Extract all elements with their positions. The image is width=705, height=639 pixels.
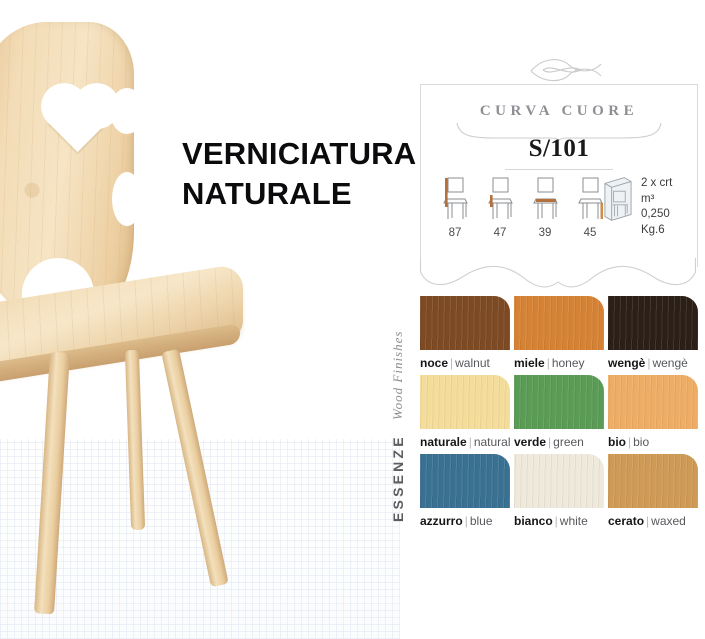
product-code: S/101 bbox=[421, 135, 697, 163]
swatch-name-en: natural bbox=[474, 435, 511, 449]
swatch-color-chip bbox=[514, 375, 604, 429]
swatch-bio[interactable]: bio|bio bbox=[608, 375, 701, 453]
swatch-cerato[interactable]: cerato|waxed bbox=[608, 454, 701, 532]
swatch-name-en: wengè bbox=[652, 356, 687, 370]
swatch-name-en: green bbox=[553, 435, 584, 449]
ribbon-flourish-ornament-icon bbox=[523, 55, 609, 85]
swatch-name-it: azzurro bbox=[420, 514, 463, 528]
swatch-separator: | bbox=[467, 435, 474, 449]
swatch-color-chip bbox=[514, 454, 604, 508]
swatch-name-en: blue bbox=[470, 514, 493, 528]
swatch-color-chip bbox=[608, 296, 698, 350]
swatch-label: miele|honey bbox=[514, 356, 607, 370]
packaging-text: 2 x crt m³ 0,250 Kg.6 bbox=[641, 173, 685, 238]
product-photo bbox=[0, 0, 400, 639]
catalog-page: VERNICIATURA NATURALE CURVA CUORE S/101 bbox=[0, 0, 705, 639]
packaging-block: 2 x crt m³ 0,250 Kg.6 bbox=[601, 173, 685, 238]
finishes-side-label: ESSENZE Wood Finishes bbox=[384, 294, 410, 530]
swatch-name-it: verde bbox=[514, 435, 546, 449]
swatch-label: naturale|natural bbox=[420, 435, 513, 449]
specifications-block: 87 47 39 45 2 x crt m³ 0,2 bbox=[435, 175, 685, 259]
chair-height-icon bbox=[441, 175, 469, 223]
dimension-values-row: 87 47 39 45 bbox=[441, 227, 604, 239]
swatch-naturale[interactable]: naturale|natural bbox=[420, 375, 513, 453]
swatch-azzurro[interactable]: azzurro|blue bbox=[420, 454, 513, 532]
swatch-color-chip bbox=[420, 375, 510, 429]
swatch-label: bio|bio bbox=[608, 435, 701, 449]
swatch-label: cerato|waxed bbox=[608, 514, 701, 528]
swatch-name-it: bianco bbox=[514, 514, 553, 528]
swatch-bianco[interactable]: bianco|white bbox=[514, 454, 607, 532]
swatch-separator: | bbox=[463, 514, 470, 528]
swatch-color-chip bbox=[420, 454, 510, 508]
swatch-name-en: walnut bbox=[455, 356, 490, 370]
dimension-value: 87 bbox=[441, 227, 469, 239]
swatch-separator: | bbox=[545, 356, 552, 370]
swatch-name-en: bio bbox=[633, 435, 649, 449]
swatch-color-chip bbox=[514, 296, 604, 350]
code-underline bbox=[505, 169, 613, 170]
dimension-value: 45 bbox=[576, 227, 604, 239]
collection-name: CURVA CUORE bbox=[421, 103, 697, 120]
swatch-label: bianco|white bbox=[514, 514, 607, 528]
swatch-name-it: cerato bbox=[608, 514, 644, 528]
swatch-name-en: honey bbox=[552, 356, 585, 370]
card-scalloped-bottom-border bbox=[420, 258, 696, 294]
swatch-name-it: miele bbox=[514, 356, 545, 370]
finishes-label-english: Wood Finishes bbox=[390, 331, 406, 420]
heart-cutout-icon bbox=[48, 90, 110, 152]
wood-finishes-panel: ESSENZE Wood Finishes noce|walnut miele|… bbox=[386, 294, 702, 530]
chair-seat-depth-icon bbox=[531, 175, 559, 223]
swatch-color-chip bbox=[608, 454, 698, 508]
chair-back-height-icon bbox=[486, 175, 514, 223]
swatch-grid: noce|walnut miele|honey wengè|wengè natu… bbox=[420, 296, 701, 532]
swatch-verde[interactable]: verde|green bbox=[514, 375, 607, 453]
swatch-label: wengè|wengè bbox=[608, 356, 701, 370]
swatch-wenge[interactable]: wengè|wengè bbox=[608, 296, 701, 374]
page-title: VERNICIATURA NATURALE bbox=[182, 134, 416, 214]
product-info-card: CURVA CUORE S/101 bbox=[420, 84, 698, 267]
swatch-noce[interactable]: noce|walnut bbox=[420, 296, 513, 374]
dimension-value: 39 bbox=[531, 227, 559, 239]
swatch-label: azzurro|blue bbox=[420, 514, 513, 528]
chair-seat-height-icon bbox=[576, 175, 604, 223]
swatch-name-en: waxed bbox=[651, 514, 686, 528]
dimension-icon-row bbox=[441, 175, 604, 223]
swatch-name-it: wengè bbox=[608, 356, 645, 370]
swatch-name-en: white bbox=[560, 514, 588, 528]
swatch-color-chip bbox=[608, 375, 698, 429]
swatch-miele[interactable]: miele|honey bbox=[514, 296, 607, 374]
chair-backrest-panel bbox=[0, 22, 134, 312]
swatch-label: verde|green bbox=[514, 435, 607, 449]
swatch-name-it: naturale bbox=[420, 435, 467, 449]
swatch-name-it: bio bbox=[608, 435, 626, 449]
swatch-color-chip bbox=[420, 296, 510, 350]
swatch-name-it: noce bbox=[420, 356, 448, 370]
carton-box-icon bbox=[601, 173, 634, 223]
swatch-separator: | bbox=[553, 514, 560, 528]
dimension-value: 47 bbox=[486, 227, 514, 239]
swatch-label: noce|walnut bbox=[420, 356, 513, 370]
finishes-label-italian: ESSENZE bbox=[390, 434, 406, 522]
backrest-notch-right-lower bbox=[112, 172, 142, 226]
